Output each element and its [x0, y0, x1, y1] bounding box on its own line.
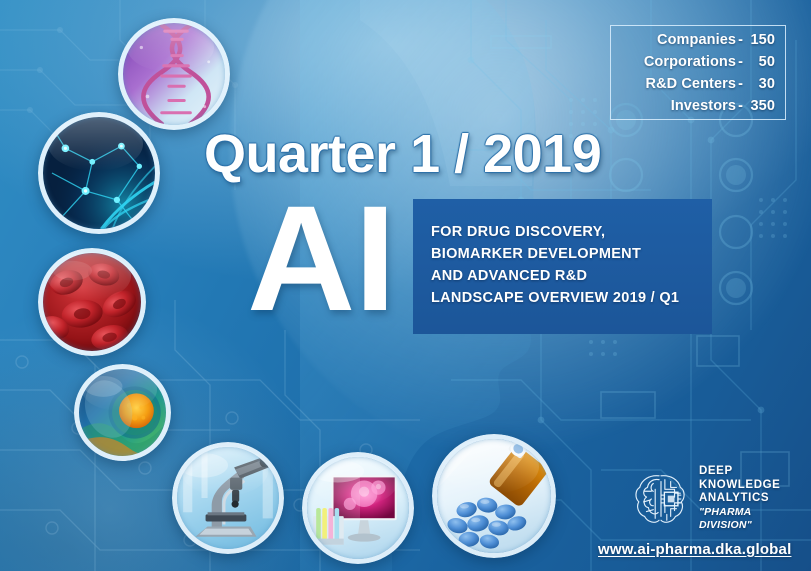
stats-value: 50 [745, 51, 775, 73]
subtitle-line: FOR DRUG DISCOVERY, [431, 221, 712, 243]
ai-monogram: AI [247, 183, 395, 333]
stats-box: Companies - 150 Corporations - 50 R&D Ce… [610, 25, 786, 120]
stats-label: Investors [671, 95, 736, 117]
bubble-computer-screen [302, 452, 414, 564]
stats-label: Companies [657, 29, 736, 51]
subtitle-line: LANDSCAPE OVERVIEW 2019 / Q1 [431, 287, 712, 309]
bubble-neuron-network [38, 112, 160, 234]
logo-line-knowledge: KNOWLEDGE [699, 479, 792, 493]
website-url-link[interactable]: www.ai-pharma.dka.global [598, 541, 791, 558]
bubble-red-blood-cells [38, 248, 146, 356]
stats-label: Corporations [644, 51, 736, 73]
quarter-title: Quarter 1 / 2019 [204, 127, 601, 181]
stats-dash: - [736, 95, 745, 117]
stats-value: 30 [745, 73, 775, 95]
company-logo: DEEP KNOWLEDGE ANALYTICS "PHARMA DIVISIO… [632, 468, 792, 530]
logo-wordmark: DEEP KNOWLEDGE ANALYTICS "PHARMA DIVISIO… [699, 465, 792, 533]
stats-label: R&D Centers [646, 73, 737, 95]
logo-line-division: "PHARMA DIVISION" [699, 506, 792, 533]
stats-dash: - [736, 51, 745, 73]
bubble-cell-microscopy [74, 364, 171, 461]
stats-row: Corporations - 50 [611, 51, 775, 73]
bubble-pill-bottle [432, 434, 556, 558]
brain-circuit-icon [632, 470, 690, 528]
bubble-dna-helix [118, 18, 230, 130]
subtitle-line: BIOMARKER DEVELOPMENT [431, 243, 712, 265]
stats-value: 150 [745, 29, 775, 51]
stats-dash: - [736, 29, 745, 51]
stats-row: Companies - 150 [611, 29, 775, 51]
poster-canvas: Companies - 150 Corporations - 50 R&D Ce… [0, 0, 811, 571]
logo-line-analytics: ANALYTICS [699, 492, 792, 506]
stats-row: Investors - 350 [611, 95, 775, 117]
stats-row: R&D Centers - 30 [611, 73, 775, 95]
stats-dash: - [736, 73, 745, 95]
logo-line-deep: DEEP [699, 465, 792, 479]
subtitle-line: AND ADVANCED R&D [431, 265, 712, 287]
stats-value: 350 [745, 95, 775, 117]
subtitle-panel: FOR DRUG DISCOVERY, BIOMARKER DEVELOPMEN… [413, 199, 712, 334]
bubble-microscope [172, 442, 284, 554]
